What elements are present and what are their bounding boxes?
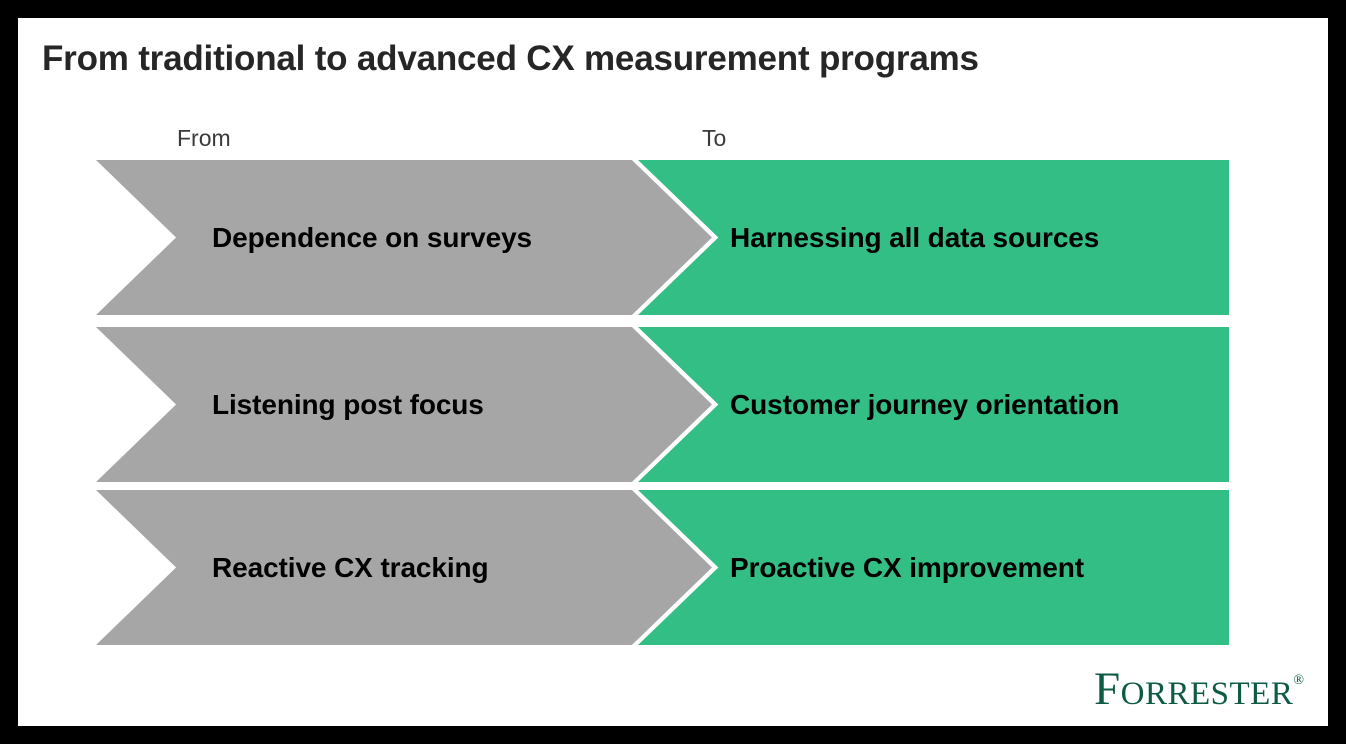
- comparison-row: Reactive CX tracking Proactive CX improv…: [18, 490, 1328, 645]
- forrester-logo-wordmark: Forrester®: [1094, 656, 1304, 714]
- from-chevron-label: Listening post focus: [212, 327, 484, 482]
- comparison-row: Dependence on surveys Harnessing all dat…: [18, 160, 1328, 315]
- column-caption-to: To: [702, 124, 726, 152]
- registered-trademark-icon: ®: [1293, 673, 1304, 688]
- slide-frame: From traditional to advanced CX measurem…: [0, 0, 1346, 744]
- forrester-logo-text: Forrester: [1094, 663, 1293, 715]
- from-chevron-label: Dependence on surveys: [212, 160, 532, 315]
- to-chevron-label: Customer journey orientation: [730, 327, 1119, 482]
- from-chevron-label: Reactive CX tracking: [212, 490, 489, 645]
- to-chevron-label: Harnessing all data sources: [730, 160, 1099, 315]
- to-chevron-label: Proactive CX improvement: [730, 490, 1084, 645]
- comparison-row: Listening post focus Customer journey or…: [18, 327, 1328, 482]
- slide-canvas: From traditional to advanced CX measurem…: [18, 18, 1328, 726]
- forrester-logo: Forrester®: [1018, 656, 1304, 706]
- column-caption-from: From: [177, 124, 231, 152]
- page-title: From traditional to advanced CX measurem…: [42, 36, 1282, 82]
